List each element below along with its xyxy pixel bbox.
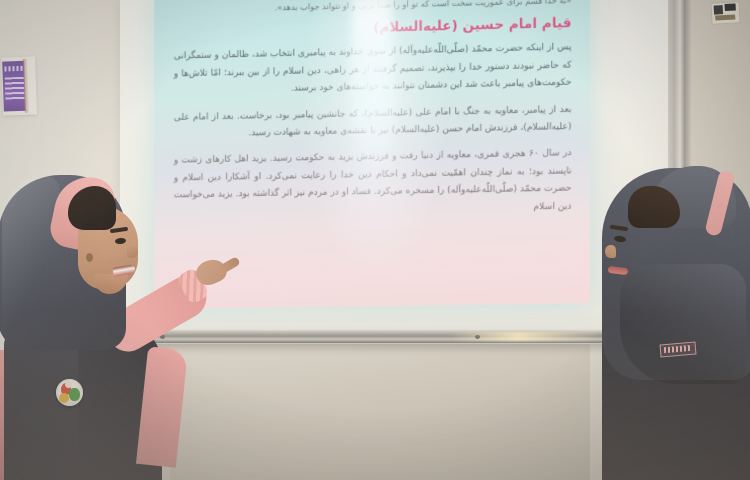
poster-text-lines bbox=[5, 77, 25, 100]
floor-shadow-gradient bbox=[0, 310, 750, 480]
wall-sticker bbox=[710, 1, 740, 24]
student-left-nose bbox=[127, 246, 138, 258]
poster-ink-block bbox=[2, 61, 26, 112]
student-right-nose bbox=[605, 245, 616, 258]
poster-torn-edge bbox=[23, 59, 29, 113]
screenshot-root: «به خدا قسم برای عموریت سخت است که تو او… bbox=[0, 0, 750, 480]
poster-star-row bbox=[4, 66, 24, 72]
student-left-earring bbox=[86, 253, 93, 262]
purple-paper-notice bbox=[1, 56, 37, 115]
